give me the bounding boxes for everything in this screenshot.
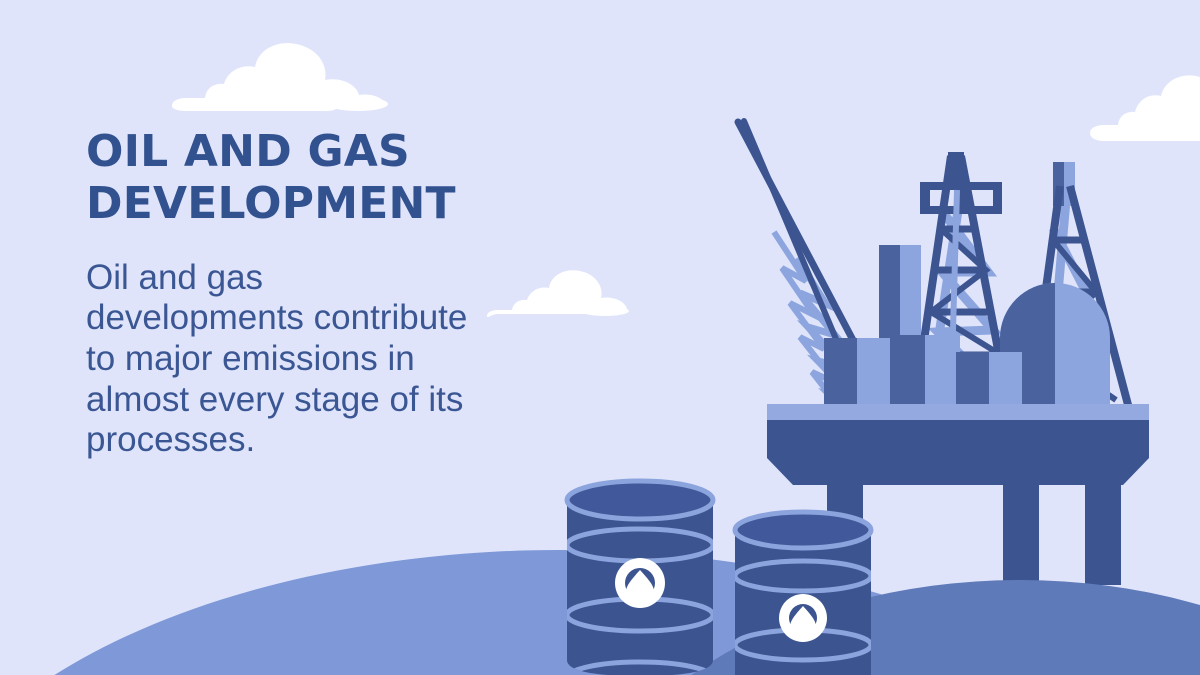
oil-droplet-logo-back [779,594,827,642]
platform-leg-middle [1003,485,1039,585]
page-title: OIL AND GAS DEVELOPMENT [86,126,476,230]
slide-canvas: OIL AND GAS DEVELOPMENT Oil and gas deve… [0,0,1200,675]
body-paragraph: Oil and gas developments contribute to m… [86,258,476,461]
oil-barrel-front [567,481,713,675]
platform-deck [767,404,1149,420]
oil-barrel-back [735,512,871,675]
oil-droplet-logo-front [615,558,665,608]
platform-hull [767,420,1149,485]
text-block: OIL AND GAS DEVELOPMENT Oil and gas deve… [86,126,486,461]
platform-leg-right [1085,485,1121,585]
